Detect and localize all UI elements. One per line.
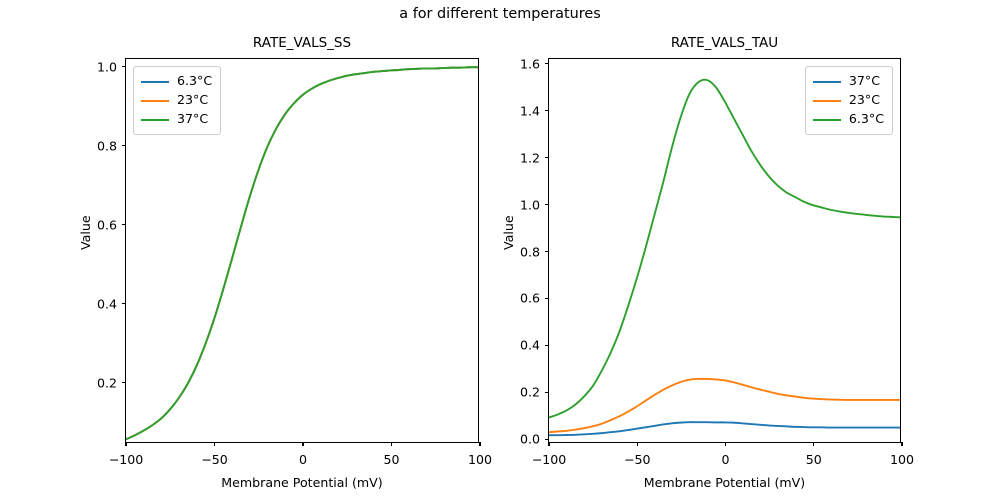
series-line-23C	[549, 379, 900, 432]
xtick-0	[725, 442, 726, 446]
xticklabel-50: 50	[806, 452, 822, 467]
yticklabel-0.6: 0.6	[97, 217, 117, 232]
xticklabel--100: −100	[109, 452, 144, 467]
legend-line-swatch	[813, 119, 841, 121]
ytick-1	[122, 66, 126, 67]
xtick-100	[479, 442, 480, 446]
ytick-1.4	[545, 110, 549, 111]
yticklabel-0.2: 0.2	[520, 385, 540, 400]
yticklabel-0: 0.0	[520, 432, 540, 447]
legend-line-swatch	[141, 119, 169, 121]
yticklabel-0.6: 0.6	[520, 291, 540, 306]
legend-item-6.3C[interactable]: 6.3°C	[813, 110, 884, 129]
legend-label: 6.3°C	[849, 113, 884, 126]
yticklabel-0.4: 0.4	[97, 296, 117, 311]
ytick-0.6	[122, 224, 126, 225]
xtick--50	[637, 442, 638, 446]
ytick-0.2	[545, 392, 549, 393]
ylabel-left: Value	[78, 215, 93, 250]
yticklabel-0.4: 0.4	[520, 338, 540, 353]
legend-label: 6.3°C	[177, 75, 212, 88]
xticklabel-50: 50	[383, 452, 399, 467]
ytick-0.8	[122, 145, 126, 146]
xtick-50	[391, 442, 392, 446]
legend-item-37C[interactable]: 37°C	[141, 110, 212, 129]
subplot-title-right: RATE_VALS_TAU	[549, 35, 900, 51]
ytick-0.4	[545, 345, 549, 346]
xlabel-left: Membrane Potential (mV)	[126, 475, 478, 490]
ylabel-right: Value	[501, 215, 516, 250]
yticklabel-0.2: 0.2	[97, 375, 117, 390]
xtick-0	[302, 442, 303, 446]
ytick-0.8	[545, 251, 549, 252]
yticklabel-1.4: 1.4	[520, 103, 540, 118]
legend-item-37C[interactable]: 37°C	[813, 72, 884, 91]
figure-suptitle: a for different temperatures	[0, 6, 1000, 22]
legend-line-swatch	[813, 100, 841, 102]
yticklabel-1: 1.0	[97, 59, 117, 74]
xtick--50	[214, 442, 215, 446]
xtick--100	[548, 442, 549, 446]
ytick-0	[545, 439, 549, 440]
legend-item-23C[interactable]: 23°C	[141, 91, 212, 110]
xticklabel-0: 0	[721, 452, 729, 467]
legend-item-23C[interactable]: 23°C	[813, 91, 884, 110]
legend-label: 37°C	[177, 113, 208, 126]
yticklabel-1: 1.0	[520, 197, 540, 212]
xticklabel-100: 100	[468, 452, 492, 467]
legend-label: 23°C	[177, 94, 208, 107]
yticklabel-0.8: 0.8	[97, 138, 117, 153]
xticklabel--100: −100	[532, 452, 567, 467]
legend-line-swatch	[813, 81, 841, 83]
xtick-50	[813, 442, 814, 446]
xticklabel-100: 100	[890, 452, 914, 467]
ytick-1	[545, 204, 549, 205]
legend-line-swatch	[141, 81, 169, 83]
legend-label: 37°C	[849, 75, 880, 88]
ytick-0.4	[122, 303, 126, 304]
ytick-0.2	[122, 382, 126, 383]
ytick-1.2	[545, 157, 549, 158]
matplotlib-figure: a for different temperatures RATE_VALS_S…	[0, 0, 1000, 500]
xticklabel--50: −50	[624, 452, 651, 467]
legend-item-6.3C[interactable]: 6.3°C	[141, 72, 212, 91]
yticklabel-0.8: 0.8	[520, 244, 540, 259]
legend-left[interactable]: 6.3°C23°C37°C	[133, 66, 221, 135]
xtick--100	[125, 442, 126, 446]
ytick-1.6	[545, 63, 549, 64]
ytick-0.6	[545, 298, 549, 299]
legend-label: 23°C	[849, 94, 880, 107]
xlabel-right: Membrane Potential (mV)	[549, 475, 900, 490]
legend-right[interactable]: 37°C23°C6.3°C	[805, 66, 893, 135]
xticklabel-0: 0	[299, 452, 307, 467]
subplot-title-left: RATE_VALS_SS	[126, 35, 478, 51]
subplot-rate-vals-ss: RATE_VALS_SS −100−500501000.20.40.60.81.…	[125, 58, 479, 443]
subplot-rate-vals-tau: RATE_VALS_TAU −100−500501000.00.20.40.60…	[548, 58, 901, 443]
xticklabel--50: −50	[201, 452, 228, 467]
legend-line-swatch	[141, 100, 169, 102]
yticklabel-1.2: 1.2	[520, 150, 540, 165]
xtick-100	[901, 442, 902, 446]
yticklabel-1.6: 1.6	[520, 56, 540, 71]
